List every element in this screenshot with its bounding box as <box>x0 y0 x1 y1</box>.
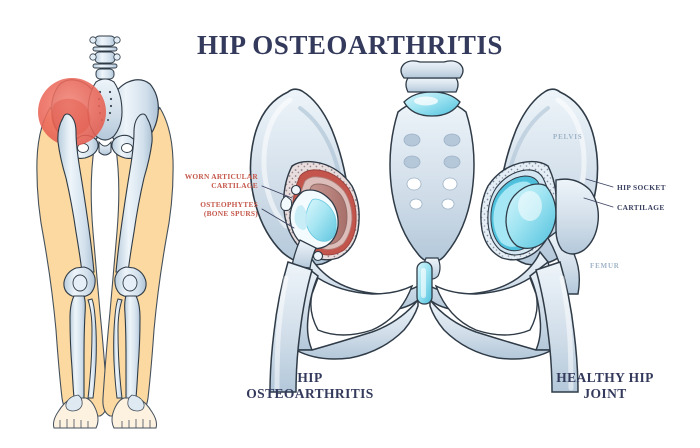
pubic-ramus-right <box>430 252 558 359</box>
label-femur: FEMUR <box>590 262 620 270</box>
label-hip-socket: HIP SOCKET <box>617 183 666 192</box>
pubic-symphysis <box>417 262 432 304</box>
caption-healthy-hip-joint: HEALTHY HIP JOINT <box>525 370 685 402</box>
caption-hip-osteoarthritis: HIP OSTEOARTHRITIS <box>230 370 390 402</box>
label-pelvis: PELVIS <box>553 133 582 141</box>
illustration-canvas: HIP OSTEOARTHRITIS WORN ARTICULAR CARTIL… <box>0 0 700 448</box>
sacrum <box>390 61 474 279</box>
page-title: HIP OSTEOARTHRITIS <box>0 30 700 61</box>
label-osteophytes: OSTEOPHYTES (BONE SPURS) <box>150 200 258 218</box>
label-worn-articular-cartilage: WORN ARTICULAR CARTILAGE <box>150 172 258 190</box>
label-cartilage: CARTILAGE <box>617 203 665 212</box>
